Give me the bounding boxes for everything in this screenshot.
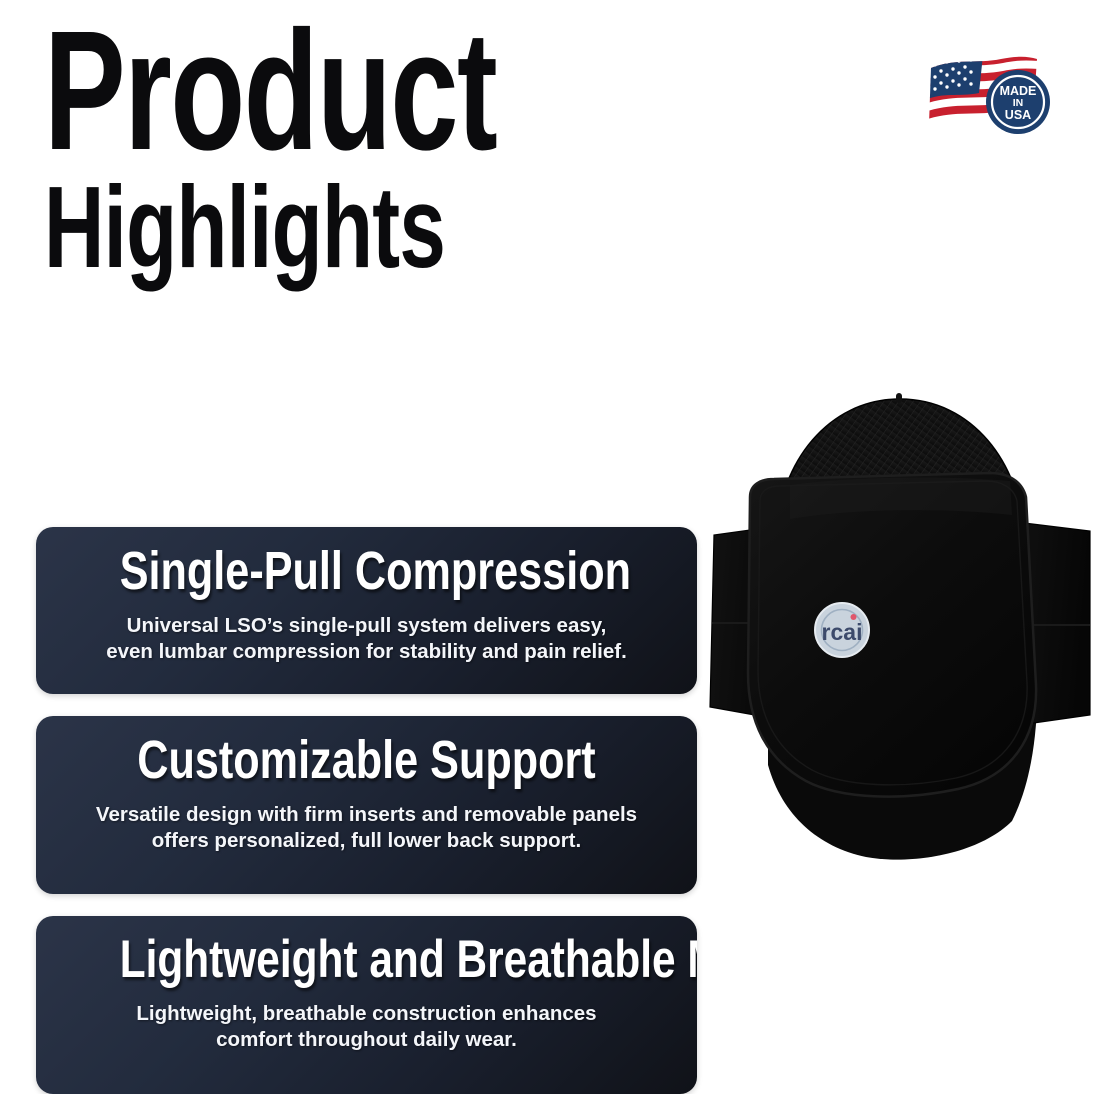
rcai-logo-text: rcai	[822, 619, 863, 645]
feature-card[interactable]: Customizable Support Versatile design wi…	[36, 716, 697, 894]
badge-line-3: USA	[1005, 108, 1031, 122]
title-line-product: Product	[44, 18, 505, 164]
page-title: Product Highlights	[44, 18, 684, 281]
product-image: rcai	[690, 385, 1110, 915]
feature-card-body: Versatile design with firm inserts and r…	[58, 802, 675, 854]
feature-card-title: Single-Pull Compression	[120, 543, 614, 599]
badge-line-1: MADE	[1000, 84, 1037, 98]
feature-card-title: Lightweight and Breathable Materials	[120, 932, 614, 987]
title-line-highlights: Highlights	[44, 174, 505, 281]
rcai-logo: rcai	[815, 603, 869, 657]
feature-card[interactable]: Lightweight and Breathable Materials Lig…	[36, 916, 697, 1094]
feature-card-list: Single-Pull Compression Universal LSO’s …	[36, 527, 697, 1094]
made-in-usa-badge: MADE IN USA	[925, 50, 1060, 145]
feature-card-body: Lightweight, breathable construction enh…	[58, 1001, 675, 1053]
made-in-usa-seal: MADE IN USA	[986, 70, 1050, 134]
rcai-logo-dot	[851, 614, 857, 620]
feature-card-body: Universal LSO’s single-pull system deliv…	[58, 613, 675, 665]
feature-card-title: Customizable Support	[120, 732, 614, 788]
product-front-flap	[748, 473, 1036, 797]
feature-card[interactable]: Single-Pull Compression Universal LSO’s …	[36, 527, 697, 694]
